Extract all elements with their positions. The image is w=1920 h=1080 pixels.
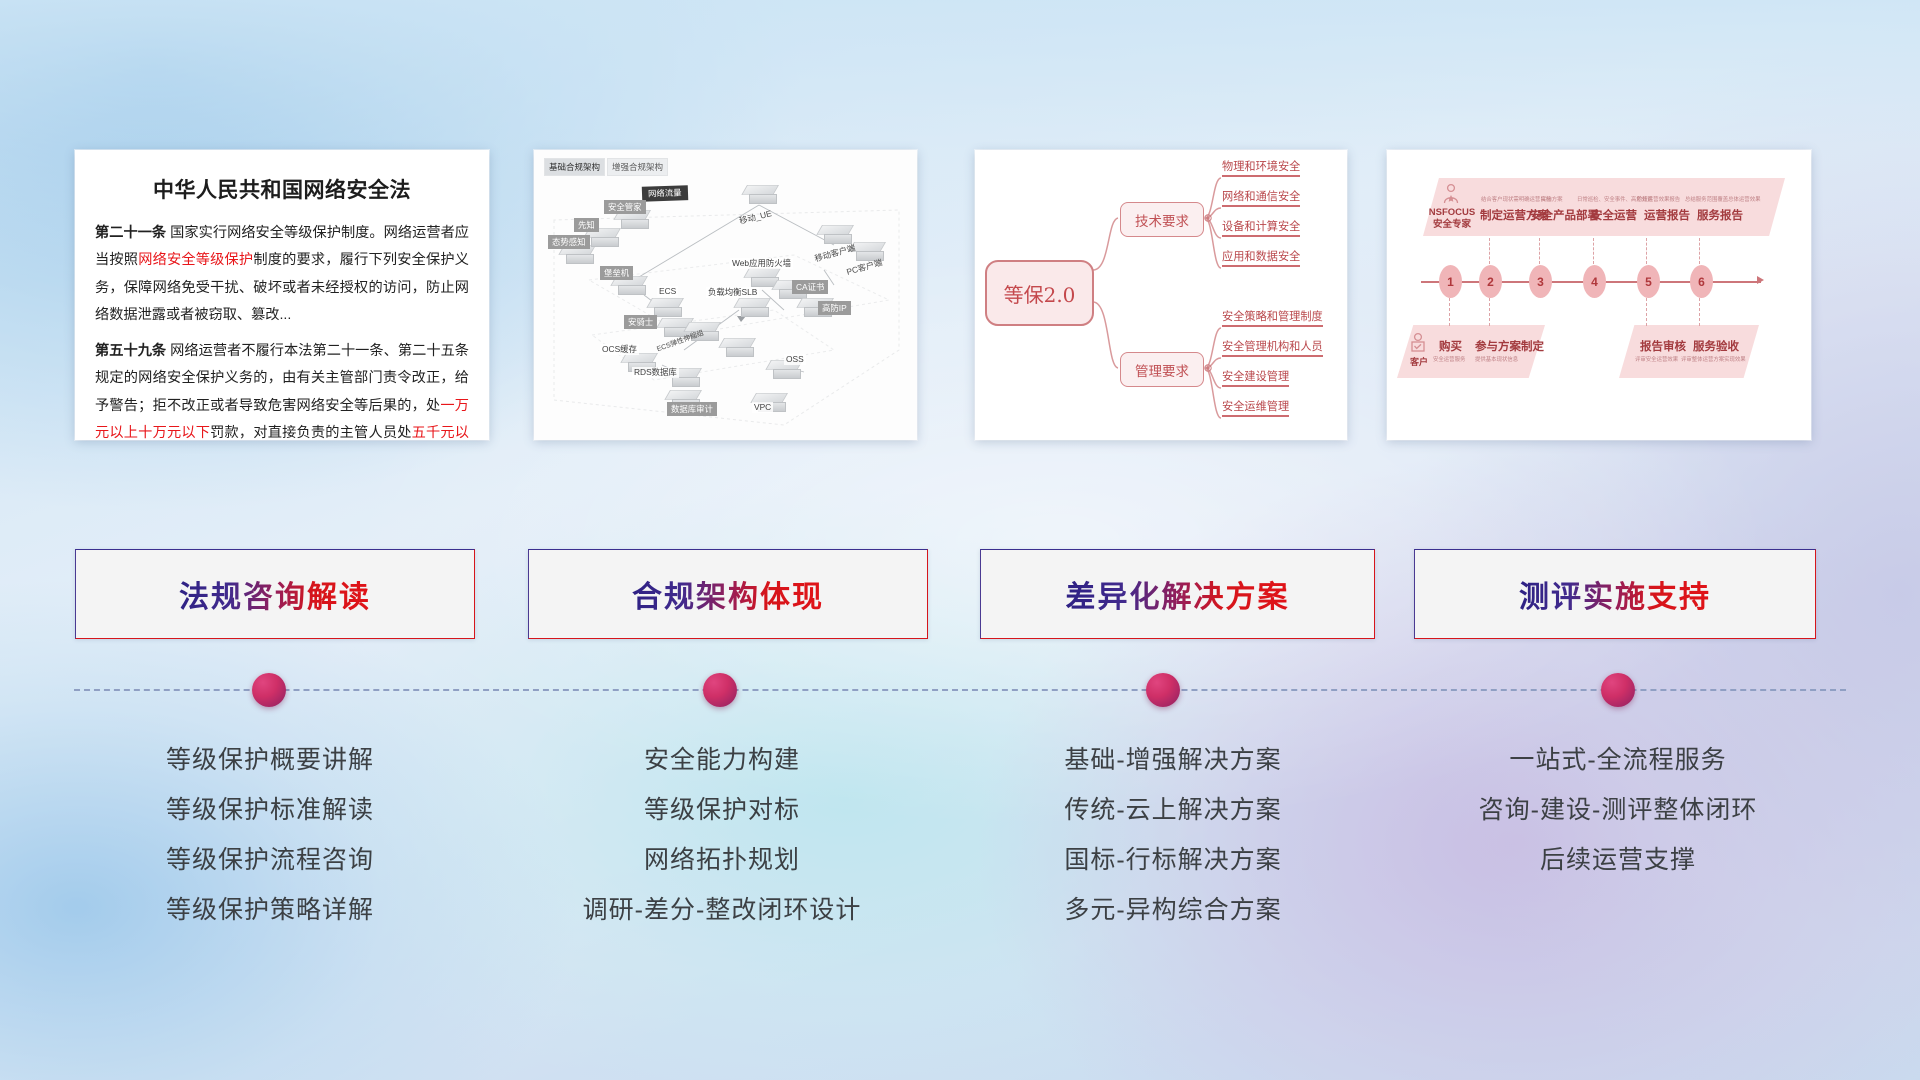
list-item: 传统-云上解决方案 [963, 785, 1383, 835]
list-item: 等级保护策略详解 [60, 885, 480, 935]
step-node-5: 5 [1637, 265, 1660, 298]
law-article-59-seg-2: 罚款，对直接负责的主管人员处 [210, 425, 411, 440]
timeline [0, 660, 1920, 720]
step-node-3: 3 [1529, 265, 1552, 298]
label-bastion-host: 堡垒机 [600, 266, 633, 280]
detail-list-regulation: 等级保护概要讲解 等级保护标准解读 等级保护流程咨询 等级保护策略详解 [60, 735, 480, 935]
law-article-59-number: 第五十九条 [95, 343, 166, 359]
label-xianzhi: 先知 [574, 218, 599, 232]
detail-list-architecture: 安全能力构建 等级保护对标 网络拓扑规划 调研-差分-整改闭环设计 [512, 735, 932, 935]
customer-step-title-2: 参与方案制定 [1475, 338, 1544, 354]
customer-step-caption-4: 评审整体运营方案实现效果 [1681, 355, 1746, 363]
cloud-architecture-diagram: 基础合规架构 增强合规架构 [534, 150, 917, 440]
step-title-4: 安全运营 [1591, 207, 1637, 223]
law-article-21-number: 第二十一条 [95, 225, 166, 241]
expert-role-label: NSFOCUS安全专家 [1428, 207, 1476, 232]
label-situational-awareness: 态势感知 [548, 235, 590, 249]
step-title-6: 服务报告 [1697, 207, 1743, 223]
tick-4 [1593, 238, 1594, 264]
label-ecs: ECS [657, 286, 678, 297]
banner-assessment-support[interactable]: 测评实施支持 [1414, 549, 1816, 639]
customer-step-title-4: 服务验收 [1693, 338, 1739, 354]
list-item: 后续运营支撑 [1408, 835, 1828, 885]
slide-stage: 中华人民共和国网络安全法 第二十一条 国家实行网络安全等级保护制度。网络运营者应… [0, 0, 1920, 1080]
list-item: 网络拓扑规划 [512, 835, 932, 885]
list-item: 咨询-建设-测评整体闭环 [1408, 785, 1828, 835]
timeline-node-1[interactable] [252, 673, 286, 707]
banner-label-4: 测评实施支持 [1519, 572, 1711, 616]
thumbnail-cloud-architecture[interactable]: 基础合规架构 增强合规架构 [534, 150, 917, 440]
customer-step-caption-1: 安全运营服务 [1433, 355, 1465, 363]
tick-3 [1539, 238, 1540, 264]
mindmap-leaf-policy-system: 安全策略和管理制度 [1222, 308, 1323, 327]
tick-c3 [1646, 298, 1647, 326]
customer-step-title-1: 购买 [1439, 338, 1462, 354]
label-anqishi: 安骑士 [624, 315, 657, 329]
mindmap-root-node: 等保2.0 [985, 260, 1094, 326]
mindmap-diagram: 等保2.0 技术要求 管理要求 物理和环境安全 网络和通信安全 设备和计算安全 … [975, 150, 1347, 440]
node-mobile-ue [747, 185, 777, 205]
expert-person-icon [1441, 183, 1461, 205]
tick-5 [1646, 238, 1647, 264]
list-item: 等级保护对标 [512, 785, 932, 835]
law-article-21-seg-1: 网络安全等级保护 [138, 252, 253, 268]
label-ca-cert: CA证书 [792, 280, 828, 294]
detail-lists: 等级保护概要讲解 等级保护标准解读 等级保护流程咨询 等级保护策略详解 安全能力… [0, 735, 1920, 985]
banner-label-3: 差异化解决方案 [1066, 572, 1290, 616]
list-item: 一站式-全流程服务 [1408, 735, 1828, 785]
nsfocus-service-flow: NSFOCUS安全专家 客户 1 2 3 4 5 6 [1387, 150, 1811, 440]
customer-step-caption-2: 提供基本现状信息 [1475, 355, 1518, 363]
label-vpc: VPC [752, 402, 773, 413]
step-title-3: 安全产品部署 [1530, 207, 1599, 223]
label-network-traffic: 网络流量 [642, 185, 688, 201]
step-caption-3: 实施方案 [1541, 195, 1563, 203]
tick-c4 [1699, 298, 1700, 326]
label-oss: OSS [784, 354, 806, 365]
banner-label-1: 法规咨询解读 [179, 572, 371, 616]
step-caption-5: 阶段运营效果报告 [1637, 195, 1680, 203]
label-slb: 负载均衡SLB [706, 287, 759, 298]
banner-label-2: 合规架构体现 [632, 572, 824, 616]
mindmap-leaf-app-data: 应用和数据安全 [1222, 248, 1300, 267]
step-node-6: 6 [1690, 265, 1713, 298]
thumbnail-row: 中华人民共和国网络安全法 第二十一条 国家实行网络安全等级保护制度。网络运营者应… [0, 0, 1920, 300]
customer-step-title-3: 报告审核 [1640, 338, 1686, 354]
law-document-title: 中华人民共和国网络安全法 [95, 174, 469, 204]
tick-2 [1489, 238, 1490, 264]
banner-differentiated-solution[interactable]: 差异化解决方案 [980, 549, 1375, 639]
mindmap-branch-technical: 技术要求 [1120, 202, 1204, 237]
step-node-4: 4 [1583, 265, 1606, 298]
thumbnail-law-document[interactable]: 中华人民共和国网络安全法 第二十一条 国家实行网络安全等级保护制度。网络运营者应… [75, 150, 489, 440]
law-article-59: 第五十九条 网络运营者不履行本法第二十一条、第二十五条规定的网络安全保护义务的，… [95, 338, 469, 440]
step-title-5: 运营报告 [1644, 207, 1690, 223]
mindmap-leaf-device-compute: 设备和计算安全 [1222, 218, 1300, 237]
step-node-1: 1 [1439, 265, 1462, 298]
timeline-node-4[interactable] [1601, 673, 1635, 707]
mindmap-leaf-network-comm: 网络和通信安全 [1222, 188, 1300, 207]
mindmap-leaf-construction: 安全建设管理 [1222, 368, 1289, 387]
node-mobile-client [822, 225, 852, 245]
list-item: 等级保护概要讲解 [60, 735, 480, 785]
list-item: 等级保护流程咨询 [60, 835, 480, 885]
step-caption-6: 总结服务范围覆盖总体运营效果 [1685, 195, 1760, 203]
list-item: 多元-异构综合方案 [963, 885, 1383, 935]
label-rds-database: RDS数据库 [632, 367, 679, 378]
node-slb [739, 298, 769, 318]
mindmap-leaf-operations: 安全运维管理 [1222, 398, 1289, 417]
customer-role-label: 客户 [1410, 355, 1428, 368]
label-security-butler: 安全管家 [604, 200, 646, 214]
mindmap-leaf-physical-env: 物理和环境安全 [1222, 158, 1300, 177]
list-item: 安全能力构建 [512, 735, 932, 785]
timeline-node-2[interactable] [703, 673, 737, 707]
timeline-dashed-line [74, 689, 1846, 691]
customer-person-icon [1409, 332, 1427, 354]
detail-list-solution: 基础-增强解决方案 传统-云上解决方案 国标-行标解决方案 多元-异构综合方案 [963, 735, 1383, 935]
label-db-audit: 数据库审计 [667, 402, 717, 416]
law-article-21: 第二十一条 国家实行网络安全等级保护制度。网络运营者应当按照网络安全等级保护制度… [95, 220, 469, 329]
customer-step-caption-3: 评审安全运营效果 [1635, 355, 1678, 363]
timeline-node-3[interactable] [1146, 673, 1180, 707]
tick-6 [1699, 238, 1700, 264]
thumbnail-mindmap[interactable]: 等保2.0 技术要求 管理要求 物理和环境安全 网络和通信安全 设备和计算安全 … [975, 150, 1347, 440]
thumbnail-nsfocus-timeline[interactable]: NSFOCUS安全专家 客户 1 2 3 4 5 6 [1387, 150, 1811, 440]
step-node-2: 2 [1479, 265, 1502, 298]
tick-c1 [1449, 298, 1450, 326]
label-ocs-cache: OCS缓存 [600, 344, 639, 355]
list-item: 调研-差分-整改闭环设计 [512, 885, 932, 935]
label-waf: Web应用防火墙 [730, 258, 793, 269]
banner-regulation-consulting[interactable]: 法规咨询解读 [75, 549, 475, 639]
timeline-arrow-icon [1757, 276, 1764, 284]
list-item: 等级保护标准解读 [60, 785, 480, 835]
law-document-body: 中华人民共和国网络安全法 第二十一条 国家实行网络安全等级保护制度。网络运营者应… [75, 150, 489, 440]
label-anti-ddos-ip: 高防IP [818, 301, 851, 315]
banner-compliance-architecture[interactable]: 合规架构体现 [528, 549, 928, 639]
list-item: 国标-行标解决方案 [963, 835, 1383, 885]
mindmap-branch-management: 管理要求 [1120, 352, 1204, 387]
list-item: 基础-增强解决方案 [963, 735, 1383, 785]
node-ecs-group-b [724, 338, 754, 358]
tick-c2 [1489, 298, 1490, 326]
detail-list-assessment: 一站式-全流程服务 咨询-建设-测评整体闭环 后续运营支撑 [1408, 735, 1828, 885]
mindmap-leaf-org-personnel: 安全管理机构和人员 [1222, 338, 1323, 357]
